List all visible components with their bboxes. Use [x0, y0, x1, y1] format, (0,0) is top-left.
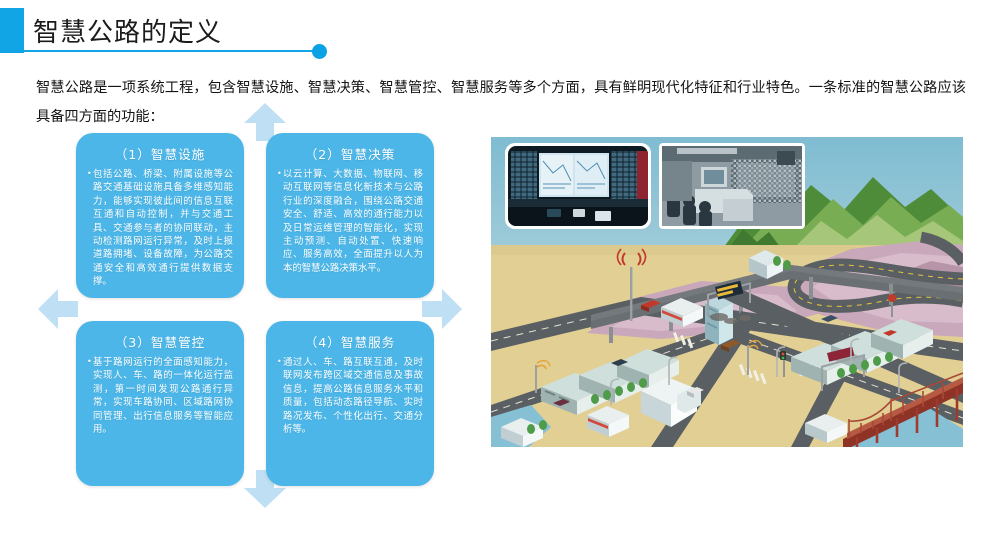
page-title: 智慧公路的定义	[33, 12, 222, 49]
quadrant-box-smart-decision[interactable]: （2）智慧决策 以云计算、大数据、物联网、移动互联网等信息化新技术与公路行业的深…	[266, 133, 434, 298]
quadrant-box-smart-facilities[interactable]: （1）智慧设施 包括公路、桥梁、附属设施等公路交通基础设施具备多维感知能力，能够…	[76, 133, 244, 298]
title-accent-bar	[0, 8, 24, 53]
quadrant-box-title: （4）智慧服务	[277, 332, 423, 351]
intro-paragraph: 智慧公路是一项系统工程，包含智慧设施、智慧决策、智慧管控、智慧服务等多个方面，具…	[36, 74, 966, 132]
quadrant-diagram: （1）智慧设施 包括公路、桥梁、附属设施等公路交通基础设施具备多维感知能力，能够…	[50, 125, 470, 525]
quadrant-box-smart-service[interactable]: （4）智慧服务 通过人、车、路互联互通，及时联网发布跨区域交通信息及事故信息，提…	[266, 321, 434, 486]
quadrant-box-title: （3）智慧管控	[87, 332, 233, 351]
quadrant-box-body: 通过人、车、路互联互通，及时联网发布跨区域交通信息及事故信息，提高公路信息服务水…	[277, 356, 423, 436]
quadrant-box-body: 基于路网运行的全面感知能力，实现人、车、路的一体化运行监测，第一时间发现公路通行…	[87, 356, 233, 436]
quadrant-box-title: （2）智慧决策	[277, 144, 423, 163]
slide-root: 智慧公路的定义 智慧公路是一项系统工程，包含智慧设施、智慧决策、智慧管控、智慧服…	[0, 0, 1000, 559]
quadrant-box-smart-control[interactable]: （3）智慧管控 基于路网运行的全面感知能力，实现人、车、路的一体化运行监测，第一…	[76, 321, 244, 486]
arrow-left-icon	[38, 289, 78, 329]
quadrant-box-body: 包括公路、桥梁、附属设施等公路交通基础设施具备多维感知能力，能够实现彼此间的信息…	[87, 168, 233, 289]
title-end-dot-icon	[312, 44, 327, 59]
title-underline-rule	[24, 50, 320, 52]
quadrant-box-title: （1）智慧设施	[87, 144, 233, 163]
quadrant-box-body: 以云计算、大数据、物联网、移动互联网等信息化新技术与公路行业的深度融合，围绕公路…	[277, 168, 423, 275]
arrow-right-icon	[422, 289, 462, 329]
smart-highway-illustration	[491, 137, 963, 447]
